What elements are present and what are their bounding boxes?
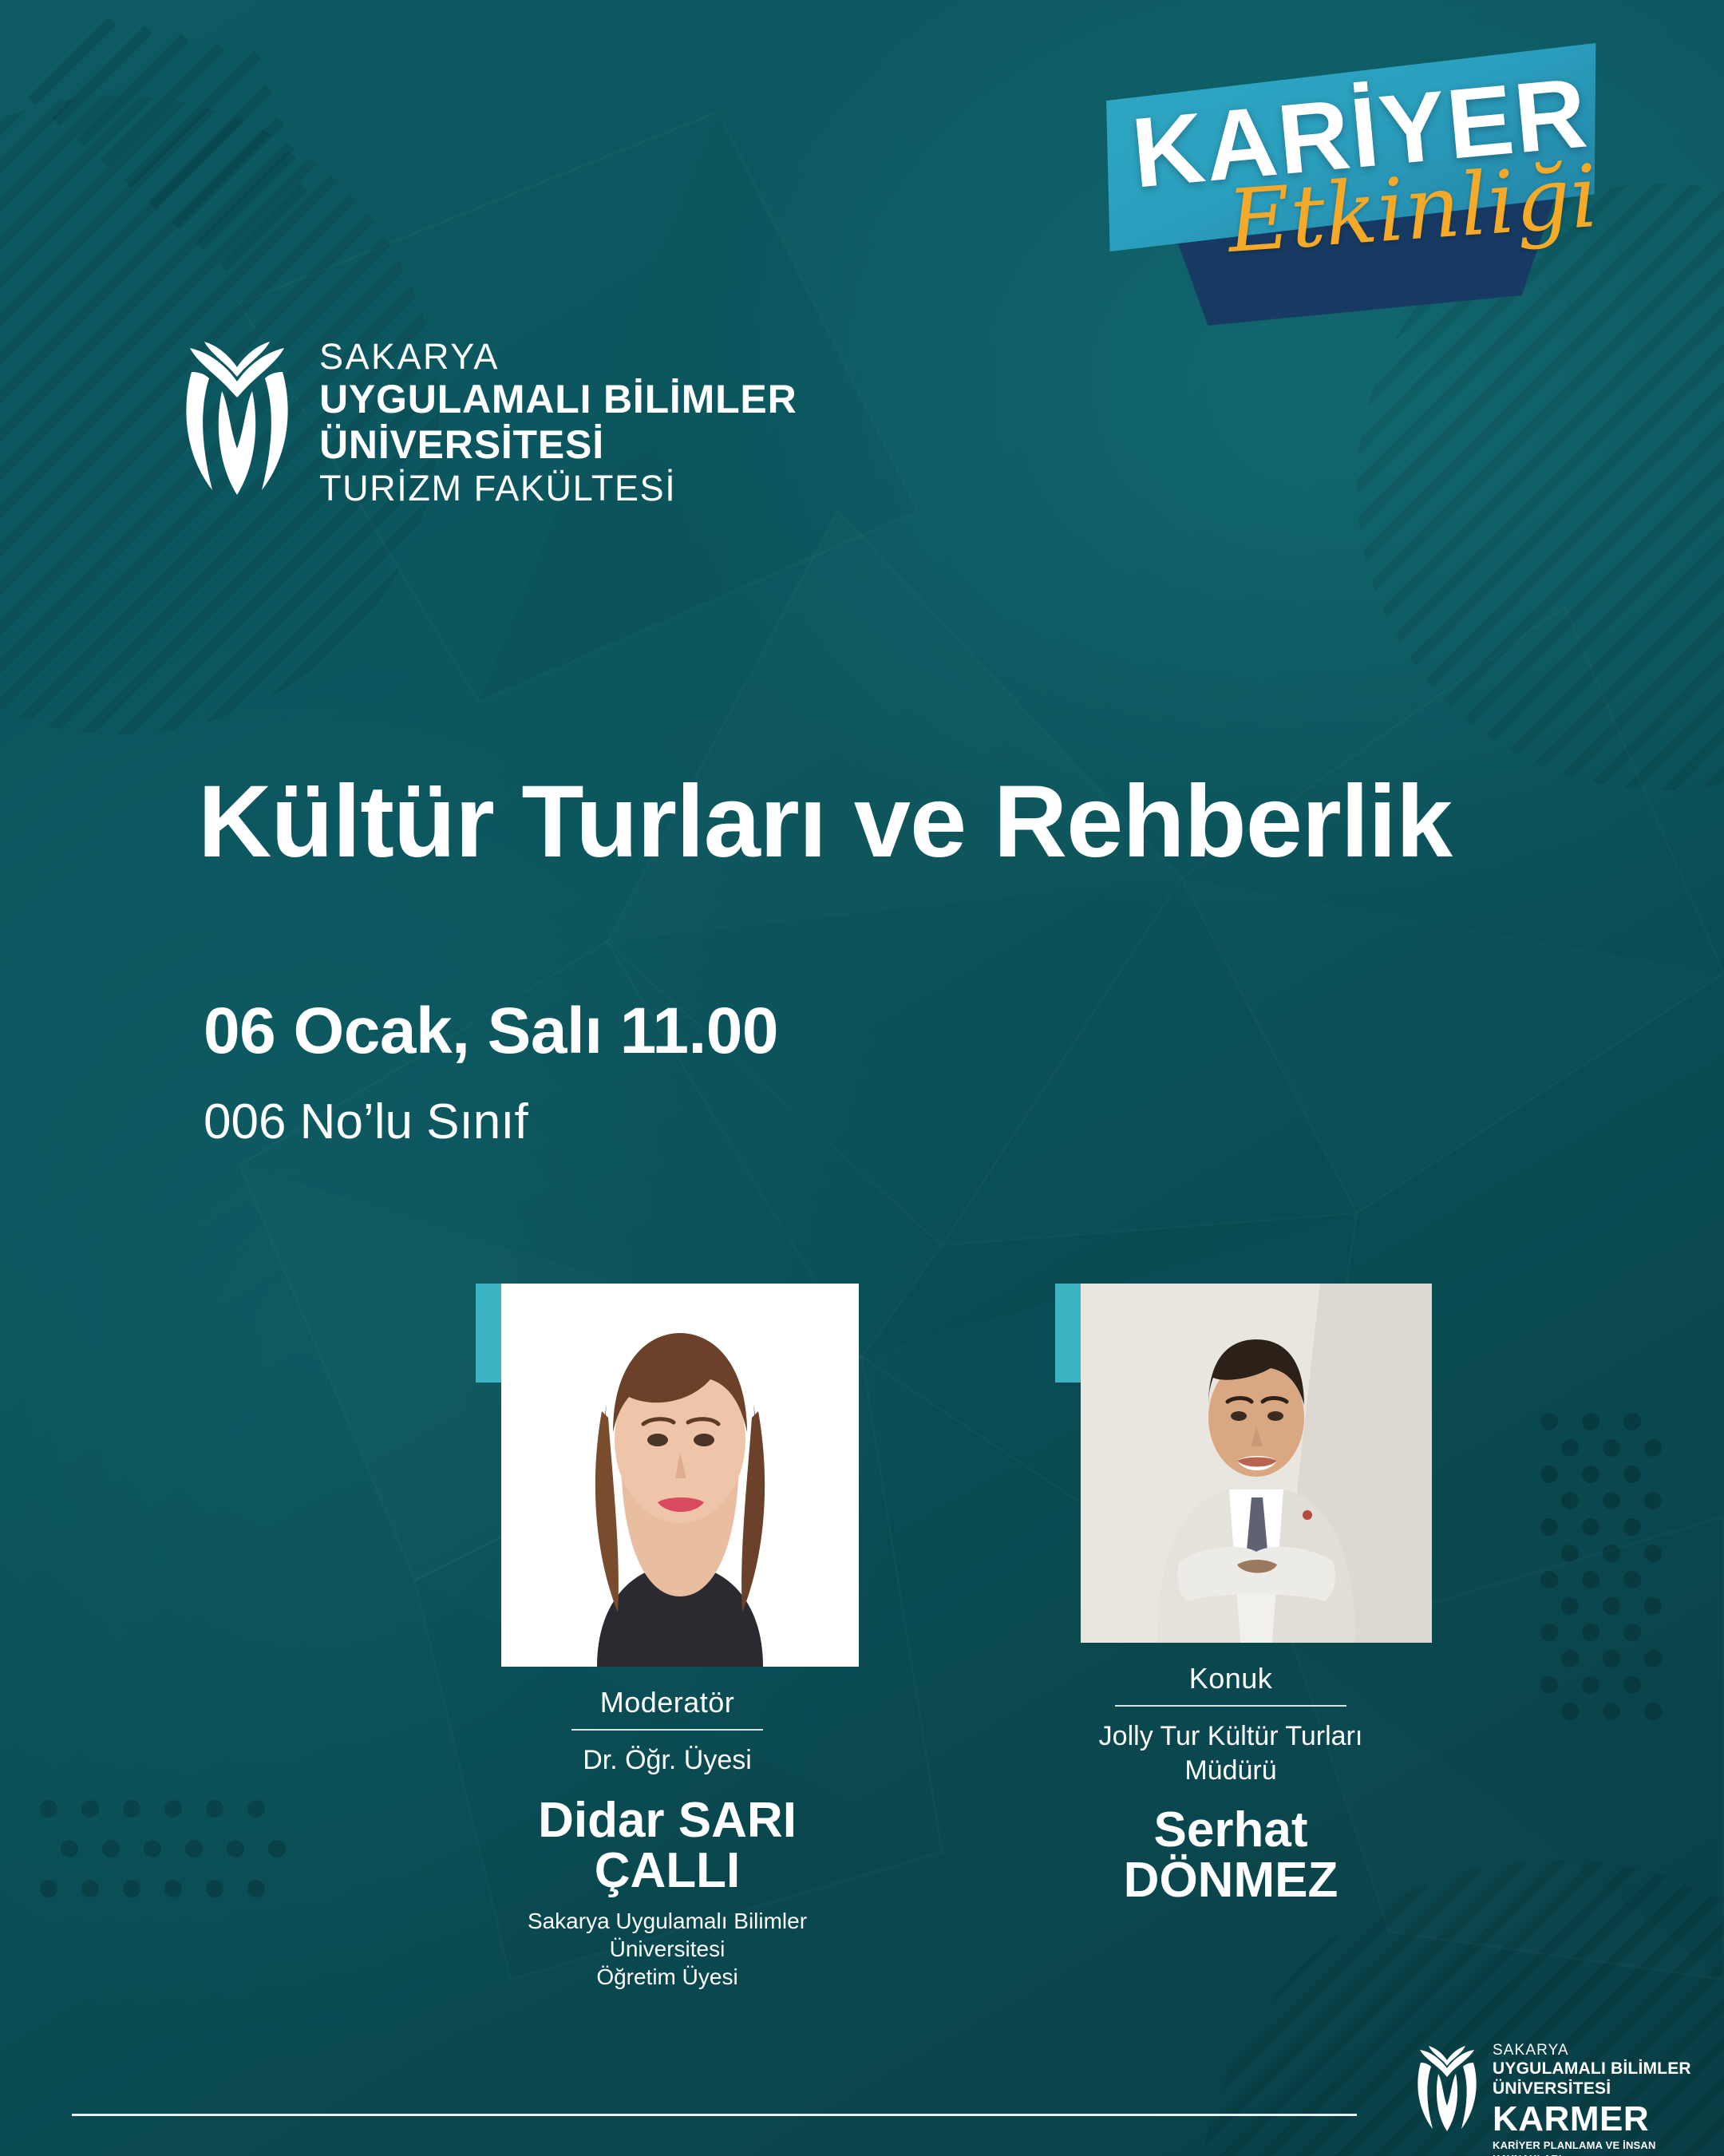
background-facet-texture bbox=[0, 0, 1724, 2156]
moderator-affiliation: Dr. Öğr. Üyesi bbox=[476, 1743, 859, 1778]
guest-affiliation: Jolly Tur Kültür Turları Müdürü bbox=[1055, 1719, 1406, 1787]
guest-affiliation-line-1: Jolly Tur Kültür Turları bbox=[1055, 1719, 1406, 1754]
person-card-moderator: Moderatör Dr. Öğr. Üyesi Didar SARI ÇALL… bbox=[476, 1258, 859, 1991]
guest-photo-frame bbox=[1055, 1284, 1406, 1643]
moderator-name-line-2: ÇALLI bbox=[476, 1845, 859, 1896]
guest-name-line-2: DÖNMEZ bbox=[1055, 1855, 1406, 1905]
karmer-line-3: ÜNİVERSİTESİ bbox=[1493, 2079, 1724, 2099]
karmer-logo: SAKARYA UYGULAMALI BİLİMLER ÜNİVERSİTESİ… bbox=[1413, 2037, 1724, 2156]
guest-affiliation-line-2: Müdürü bbox=[1055, 1754, 1406, 1788]
guest-name: Serhat DÖNMEZ bbox=[1055, 1805, 1406, 1905]
university-logo: SAKARYA UYGULAMALI BİLİMLER ÜNİVERSİTESİ… bbox=[177, 326, 797, 510]
kariyer-etkinligi-badge: KARİYER Etkinliği bbox=[1046, 56, 1652, 319]
moderator-name-line-1: Didar SARI bbox=[476, 1795, 859, 1845]
moderator-photo bbox=[501, 1284, 859, 1667]
guest-photo bbox=[1081, 1284, 1432, 1643]
guest-role-divider bbox=[1115, 1705, 1346, 1707]
moderator-subtitle-line-2: Öğretim Üyesi bbox=[476, 1963, 859, 1991]
guest-name-line-1: Serhat bbox=[1055, 1805, 1406, 1855]
decorative-dot-grid-right bbox=[1540, 1413, 1716, 1716]
event-venue: 006 No’lu Sınıf bbox=[204, 1094, 528, 1150]
karmer-logo-text: SAKARYA UYGULAMALI BİLİMLER ÜNİVERSİTESİ… bbox=[1493, 2037, 1724, 2156]
moderator-photo-frame bbox=[476, 1284, 859, 1667]
university-name-line-2: UYGULAMALI BİLİMLER bbox=[319, 377, 797, 422]
moderator-subtitle: Sakarya Uygulamalı Bilimler Üniversitesi… bbox=[476, 1907, 859, 1991]
decorative-dot-grid-left bbox=[40, 1800, 263, 1928]
moderator-name: Didar SARI ÇALLI bbox=[476, 1795, 859, 1896]
moderator-subtitle-line-1: Sakarya Uygulamalı Bilimler Üniversitesi bbox=[476, 1907, 859, 1963]
karmer-description-line-1: KARİYER PLANLAMA VE İNSAN KAYNAKLARI bbox=[1493, 2139, 1724, 2156]
event-title: Kültür Turları ve Rehberlik bbox=[198, 771, 1603, 873]
person-card-guest: Konuk Jolly Tur Kültür Turları Müdürü Se… bbox=[1055, 1258, 1406, 1905]
university-faculty-line: TURİZM FAKÜLTESİ bbox=[319, 468, 797, 509]
guest-role-label: Konuk bbox=[1055, 1662, 1406, 1695]
footer-divider bbox=[72, 2114, 1357, 2116]
event-datetime: 06 Ocak, Salı 11.00 bbox=[204, 994, 778, 1069]
karmer-line-1: SAKARYA bbox=[1493, 2042, 1724, 2059]
tulip-logo-icon bbox=[177, 326, 297, 509]
university-name-line-1: SAKARYA bbox=[319, 337, 797, 377]
moderator-role-divider bbox=[571, 1729, 763, 1731]
tulip-logo-icon bbox=[1413, 2037, 1481, 2139]
karmer-acronym: KARMER bbox=[1493, 2101, 1724, 2138]
poster-canvas: KARİYER Etkinliği SAKARYA UYGULAMALI BİL… bbox=[0, 0, 1724, 2156]
university-logo-text: SAKARYA UYGULAMALI BİLİMLER ÜNİVERSİTESİ… bbox=[319, 326, 797, 510]
moderator-role-label: Moderatör bbox=[476, 1686, 859, 1719]
university-name-line-3: ÜNİVERSİTESİ bbox=[319, 422, 797, 468]
karmer-line-2: UYGULAMALI BİLİMLER bbox=[1493, 2059, 1724, 2079]
